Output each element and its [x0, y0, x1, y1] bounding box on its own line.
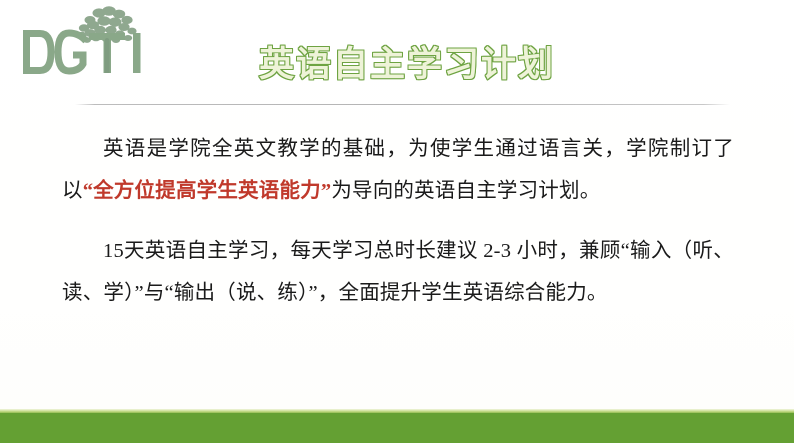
footer-bar [0, 413, 794, 443]
page-title: 英语自主学习计划 [259, 36, 555, 87]
paragraph-1-part2: 为导向的英语自主学习计划。 [331, 180, 600, 202]
paragraph-1: 英语是学院全英文教学的基础，为使学生通过语言关，学院制订了以“全方位提高学生英语… [62, 128, 734, 212]
slide-canvas: 英语自主学习计划 英语是学院全英文教学的基础，为使学生通过语言关，学院制订了以“… [0, 0, 794, 443]
paragraph-1-highlight: “全方位提高学生英语能力” [83, 180, 332, 202]
paragraph-2: 15天英语自主学习，每天学习总时长建议 2-3 小时，兼顾“输入（听、读、学）”… [62, 230, 734, 314]
body-content: 英语是学院全英文教学的基础，为使学生通过语言关，学院制订了以“全方位提高学生英语… [62, 128, 734, 314]
title-container: 英语自主学习计划 [0, 36, 794, 87]
header-divider-highlight [75, 105, 730, 106]
